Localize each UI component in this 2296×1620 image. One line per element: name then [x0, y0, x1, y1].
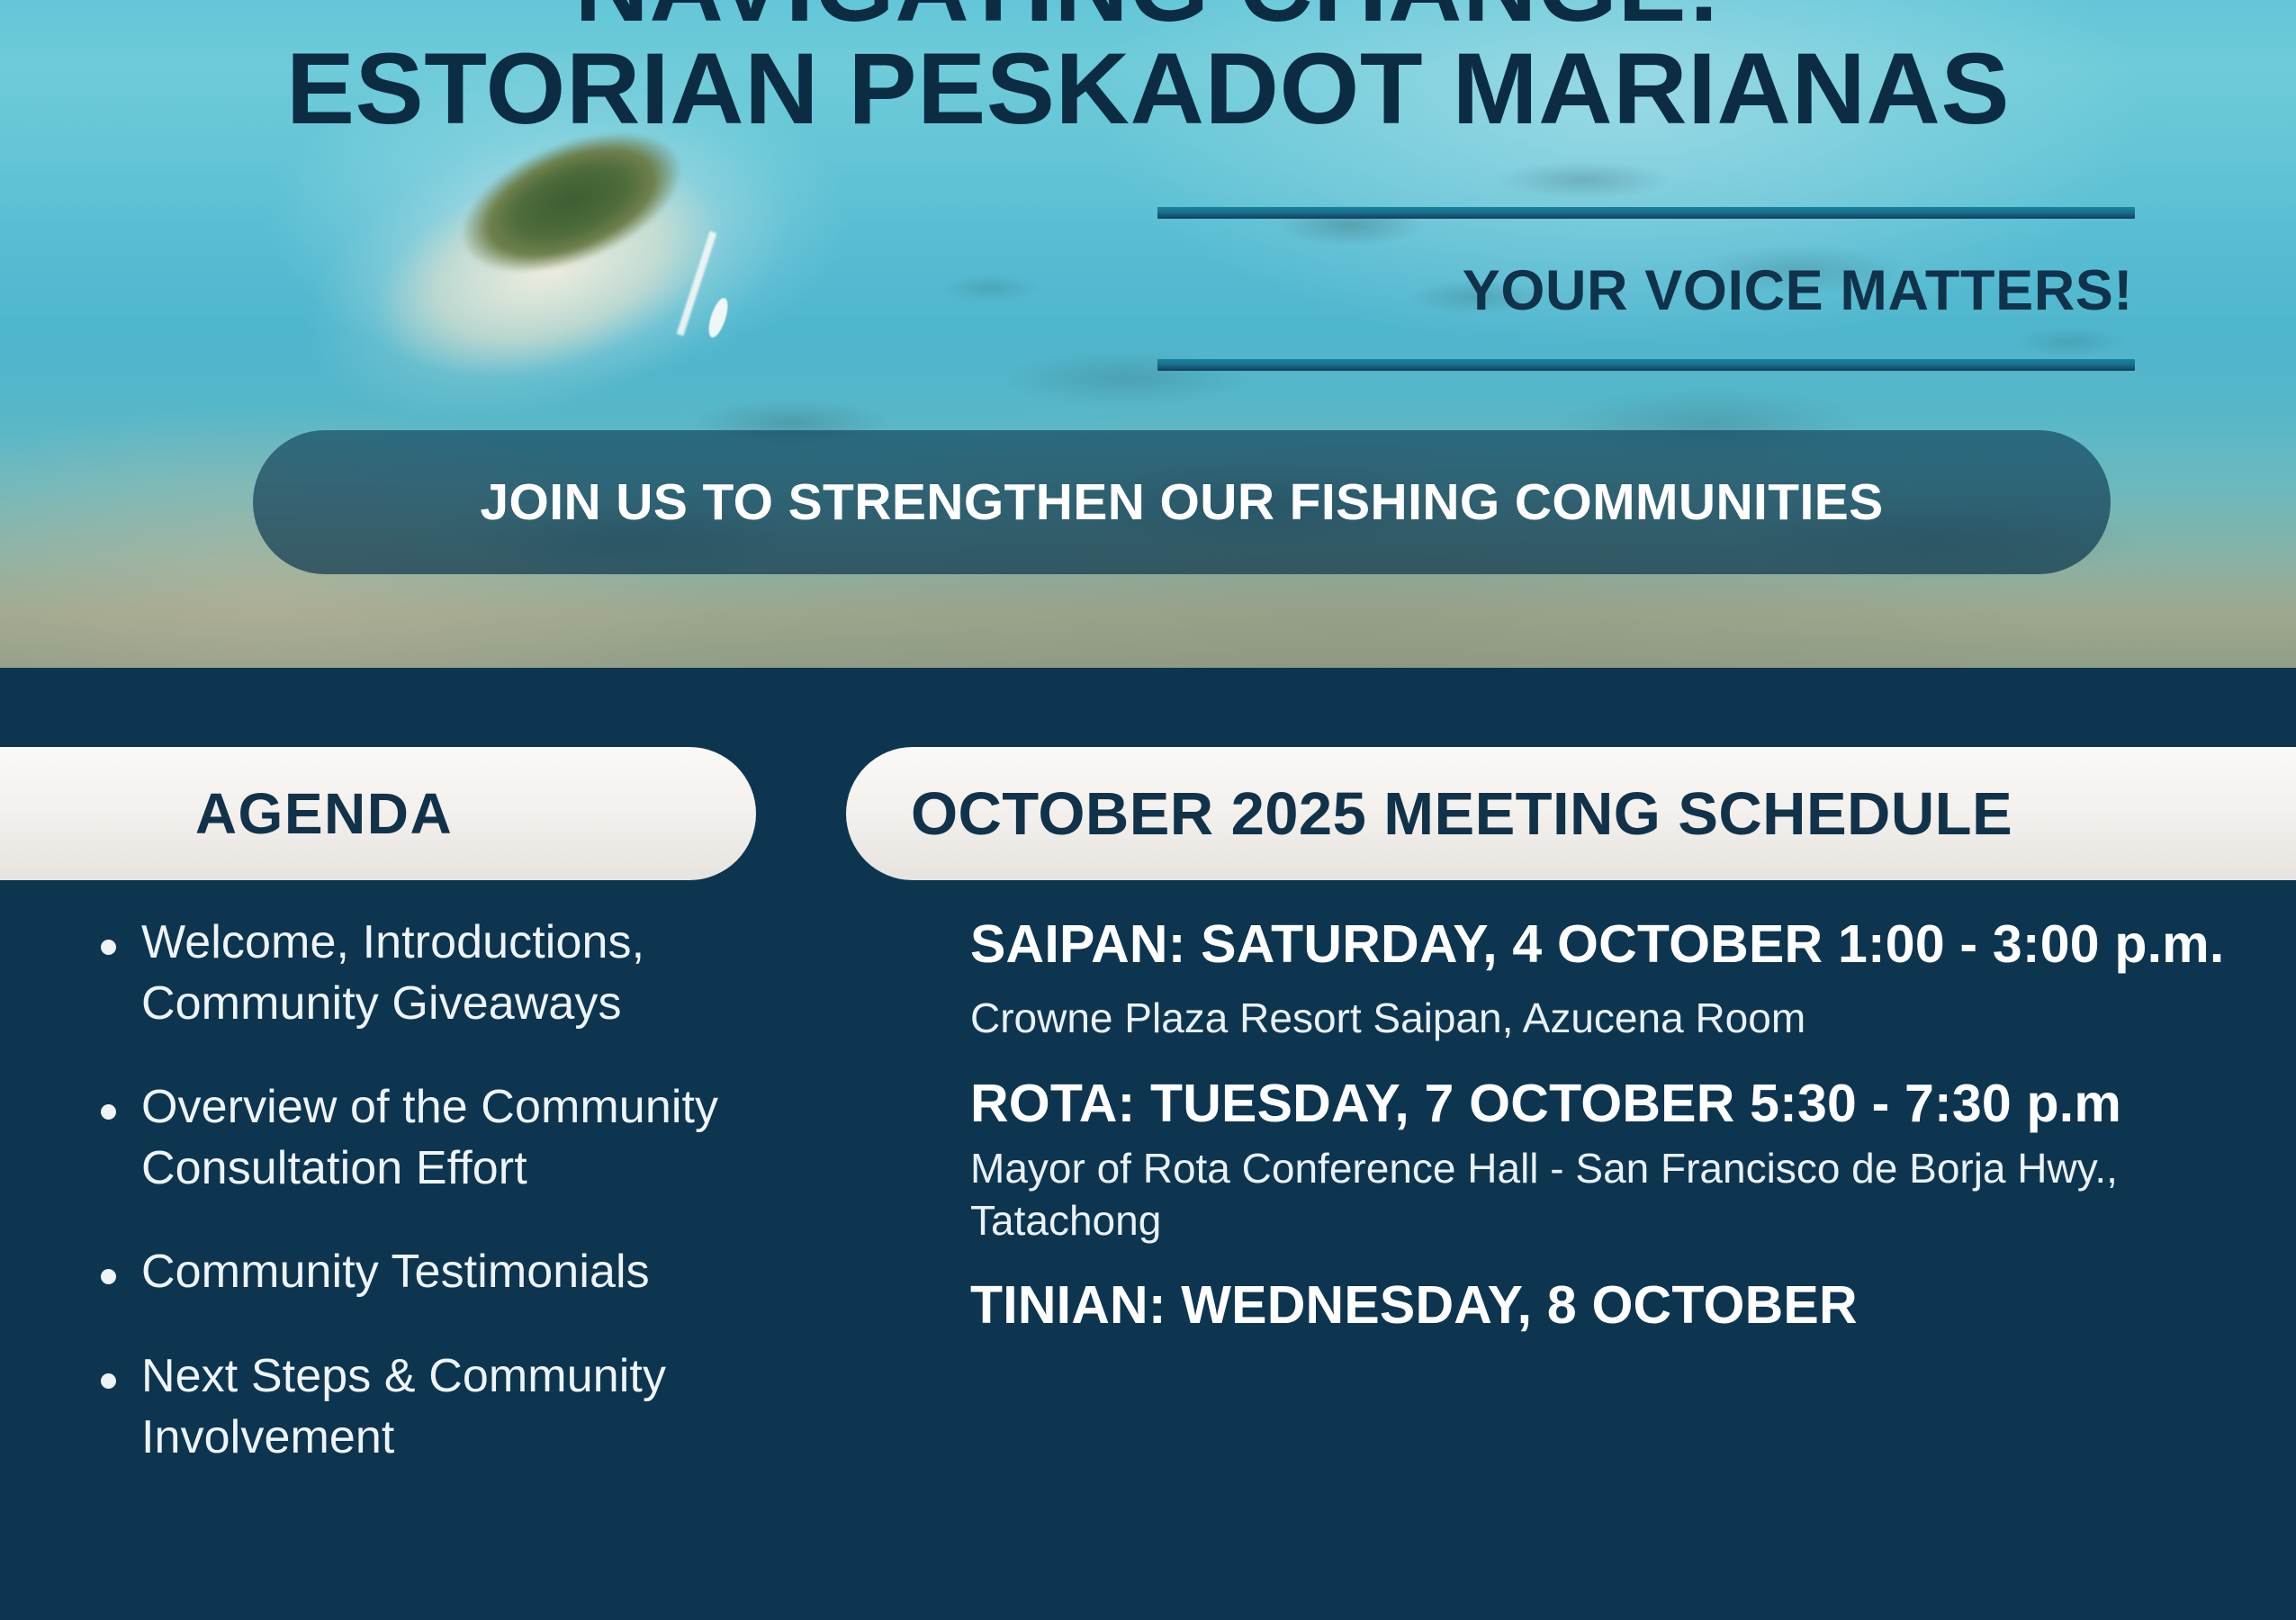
schedule-list: SAIPAN: SATURDAY, 4 OCTOBER 1:00 - 3:00 … — [970, 913, 2248, 1364]
call-to-action-banner: JOIN US TO STRENGTHEN OUR FISHING COMMUN… — [253, 430, 2111, 574]
agenda-item-label: Community Testimonials — [141, 1242, 650, 1303]
schedule-heading-label: OCTOBER 2025 MEETING SCHEDULE — [911, 779, 2012, 849]
tagline-text: YOUR VOICE MATTERS! — [1157, 219, 2135, 359]
schedule-entry-when: SAIPAN: SATURDAY, 4 OCTOBER 1:00 - 3:00 … — [970, 913, 2248, 976]
tagline-block: YOUR VOICE MATTERS! — [1157, 207, 2135, 371]
bullet-icon — [101, 1269, 116, 1284]
event-flyer: NAVIGATING CHANGE: ESTORIAN PESKADOT MAR… — [0, 0, 2296, 1620]
schedule-entry-where: Crowne Plaza Resort Saipan, Azucena Room — [970, 993, 2248, 1045]
content-columns: Welcome, Introductions, Community Giveaw… — [0, 913, 2296, 1620]
schedule-heading-pill: OCTOBER 2025 MEETING SCHEDULE — [846, 747, 2296, 880]
list-item: Next Steps & Community Involvement — [90, 1346, 810, 1468]
schedule-entry: ROTA: TUESDAY, 7 OCTOBER 5:30 - 7:30 p.m… — [970, 1072, 2248, 1247]
hero-banner: NAVIGATING CHANGE: ESTORIAN PESKADOT MAR… — [0, 0, 2296, 668]
body-section: AGENDA OCTOBER 2025 MEETING SCHEDULE Wel… — [0, 668, 2296, 1620]
poster-title: NAVIGATING CHANGE: ESTORIAN PESKADOT MAR… — [0, 0, 2296, 140]
schedule-entry: TINIAN: WEDNESDAY, 8 OCTOBER — [970, 1273, 2248, 1337]
tagline-rule-bottom — [1157, 359, 2135, 371]
list-item: Welcome, Introductions, Community Giveaw… — [90, 913, 810, 1034]
section-headings-row: AGENDA OCTOBER 2025 MEETING SCHEDULE — [0, 747, 2296, 880]
list-item: Overview of the Community Consultation E… — [90, 1077, 810, 1199]
schedule-entry-when: TINIAN: WEDNESDAY, 8 OCTOBER — [970, 1273, 2248, 1337]
bullet-icon — [101, 1373, 116, 1389]
list-item: Community Testimonials — [90, 1242, 810, 1303]
agenda-heading-pill: AGENDA — [0, 747, 756, 880]
bullet-icon — [101, 940, 116, 955]
title-line-2: ESTORIAN PESKADOT MARIANAS — [0, 38, 2296, 140]
agenda-heading-label: AGENDA — [195, 780, 453, 847]
agenda-item-label: Next Steps & Community Involvement — [141, 1346, 810, 1468]
schedule-entry-where: Mayor of Rota Conference Hall - San Fran… — [970, 1143, 2248, 1247]
call-to-action-text: JOIN US TO STRENGTHEN OUR FISHING COMMUN… — [480, 472, 1883, 532]
schedule-entry-when: ROTA: TUESDAY, 7 OCTOBER 5:30 - 7:30 p.m — [970, 1072, 2248, 1136]
agenda-list: Welcome, Introductions, Community Giveaw… — [90, 913, 810, 1511]
agenda-item-label: Welcome, Introductions, Community Giveaw… — [141, 913, 810, 1034]
bullet-icon — [101, 1104, 116, 1120]
schedule-entry: SAIPAN: SATURDAY, 4 OCTOBER 1:00 - 3:00 … — [970, 913, 2248, 1045]
tagline-rule-top — [1157, 207, 2135, 219]
agenda-item-label: Overview of the Community Consultation E… — [141, 1077, 810, 1199]
